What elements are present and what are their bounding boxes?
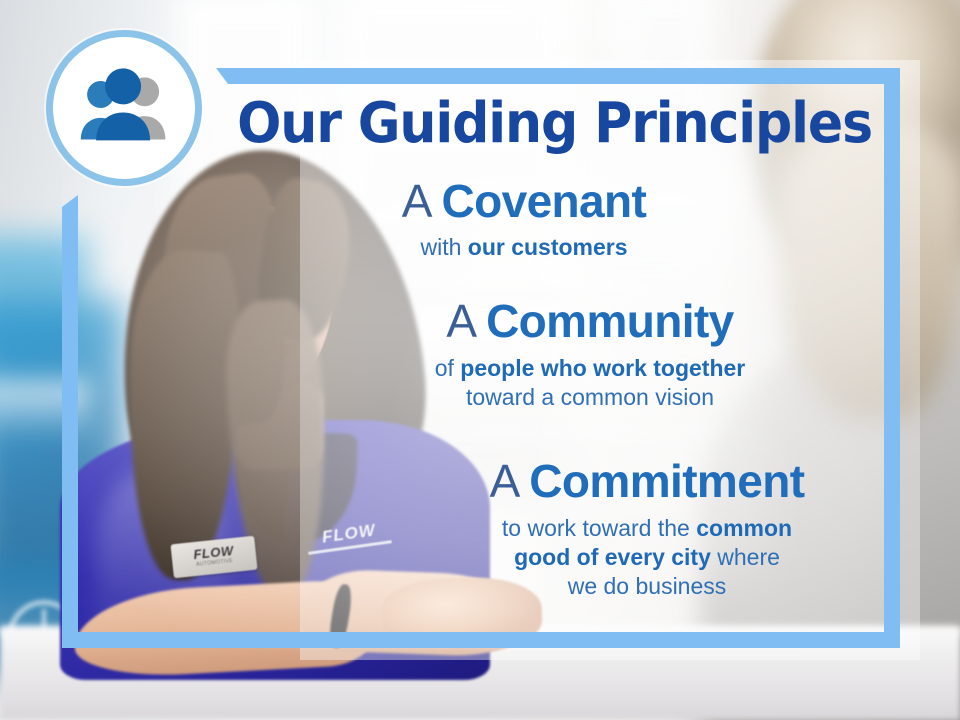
principle-community-word: Community [486, 295, 734, 347]
principle-commitment: A Commitment to work toward the common g… [392, 458, 902, 601]
principle-covenant: A Covenant with our customers [274, 178, 774, 262]
principle-commitment-heading: A Commitment [392, 458, 902, 506]
principle-community-article: A [446, 295, 474, 347]
showroom-display-blur-top [0, 235, 90, 355]
principle-covenant-heading: A Covenant [274, 178, 774, 226]
principle-commitment-sub-line1: to work toward the common [392, 514, 902, 543]
principle-commitment-word: Commitment [529, 455, 804, 507]
principle-covenant-word: Covenant [441, 175, 646, 227]
principle-commitment-sub-line2: good of every city where [392, 543, 902, 572]
guiding-principles-graphic: FLOW AUTOMOTIVE FLOW [0, 0, 960, 720]
person-darkblue-head [105, 68, 141, 104]
group-of-people-icon [70, 54, 178, 162]
principle-covenant-sub-bold: our customers [468, 234, 628, 260]
principle-commitment-sub-bold: common [696, 515, 792, 541]
car-highlight-blur [0, 380, 90, 440]
principle-community-heading: A Community [330, 298, 850, 346]
principle-community-sub-line2: toward a common vision [330, 383, 850, 412]
principle-commitment-subtext: to work toward the common good of every … [392, 514, 902, 601]
principle-covenant-subtext: with our customers [274, 233, 774, 262]
principle-commitment-line2-plain: where [711, 544, 780, 570]
people-badge [46, 30, 202, 186]
principle-commitment-article: A [490, 455, 518, 507]
principle-community: A Community of people who work together … [330, 298, 850, 412]
principle-commitment-sub-line3: we do business [392, 572, 902, 601]
principle-covenant-article: A [402, 175, 430, 227]
principle-community-sub-line1: of people who work together [330, 354, 850, 383]
principle-commitment-sub-plain: to work toward the [502, 515, 696, 541]
principle-commitment-line2-bold: good of every city [514, 544, 711, 570]
principle-covenant-sub-plain: with [420, 234, 467, 260]
principle-community-sub-plain: of [435, 355, 461, 381]
principle-community-subtext: of people who work together toward a com… [330, 354, 850, 412]
principle-community-sub-bold: people who work together [460, 355, 745, 381]
page-title: Our Guiding Principles [237, 96, 851, 152]
